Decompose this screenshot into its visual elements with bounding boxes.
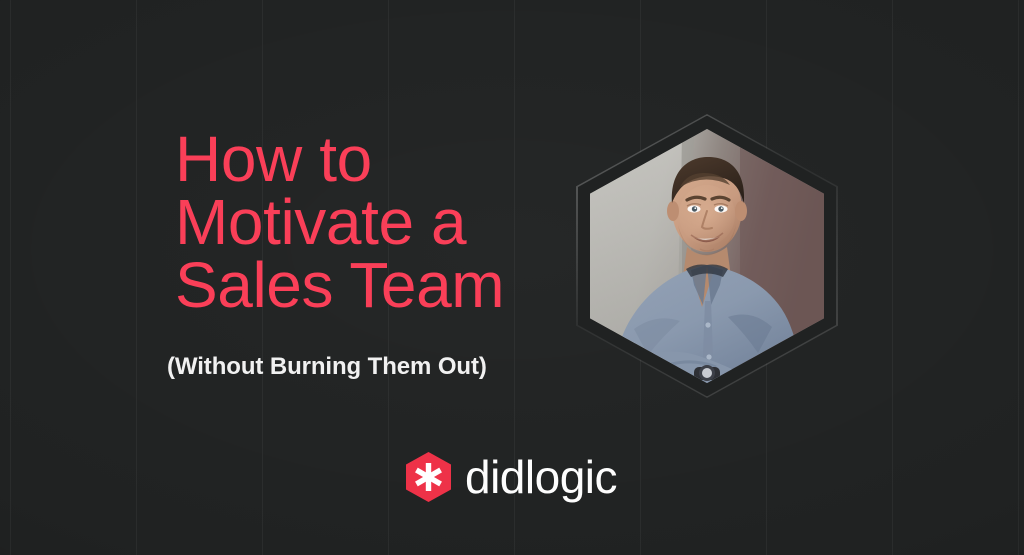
title-line-3: Sales Team (175, 254, 595, 317)
page-title: How to Motivate a Sales Team (175, 128, 595, 317)
portrait-hexagon (576, 114, 838, 398)
promo-card: How to Motivate a Sales Team (Without Bu… (0, 0, 1024, 555)
hexagon-asterisk-svg (406, 452, 451, 502)
didlogic-hexagon-asterisk-icon (406, 452, 451, 502)
page-subtitle: (Without Burning Them Out) (167, 352, 487, 382)
brand-logo[interactable]: didlogic (406, 452, 617, 502)
title-line-2: Motivate a (175, 191, 595, 254)
brand-wordmark: didlogic (465, 454, 617, 500)
title-line-1: How to (175, 128, 595, 191)
